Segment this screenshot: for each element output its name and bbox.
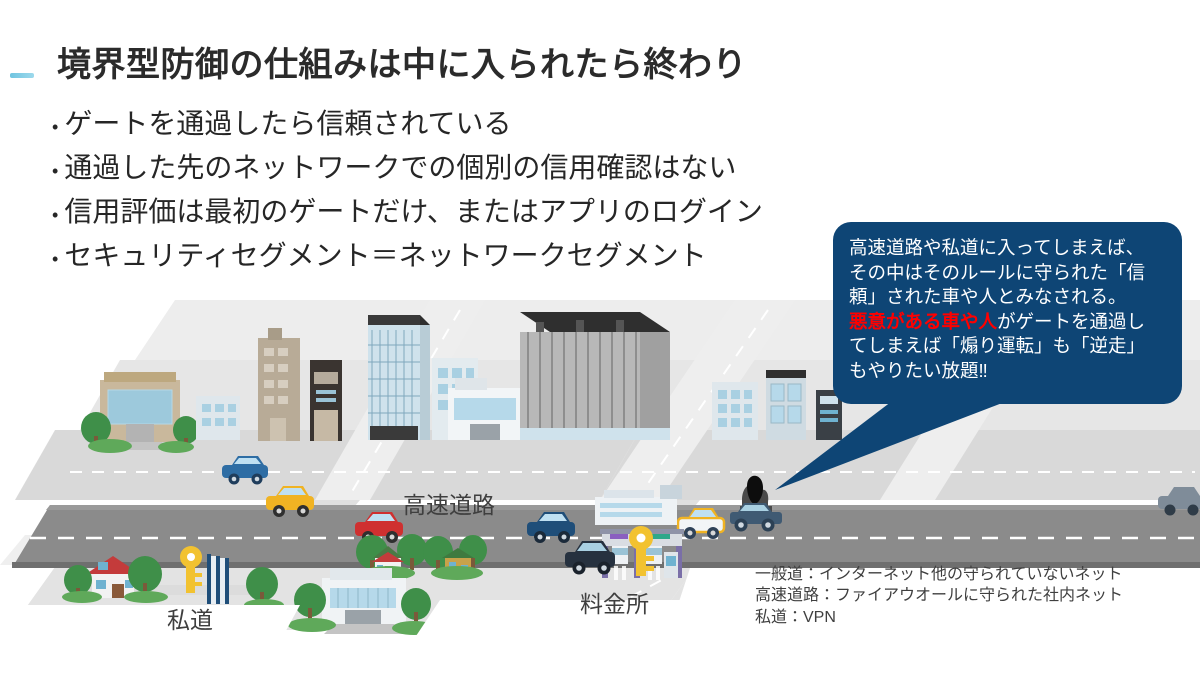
page-title: 境界型防御の仕組みは中に入られたら終わり [57,37,747,86]
label-toll-gate: 料金所 [580,585,649,619]
building-tan-midrise [258,328,300,441]
legend-block: 一般道：インターネット他の守られていないネット 高速道路：ファイアウオールに守ら… [755,564,1123,628]
bullet-text: 信用評価は最初のゲートだけ、またはアプリのログイン [64,198,763,226]
bullet-marker-icon: • [52,206,58,224]
legend-line: 私道：VPN [755,607,1123,628]
building-glass-tower [368,315,430,440]
callout-line: てしまえば「煽り運転」も「逆走」 [849,334,1168,359]
label-private-road: 私道 [167,601,213,635]
callout-line: 悪意がある車や人がゲートを通過し [849,310,1168,335]
bullet-text: 通過した先のネットワークでの個別の信用確認はない [64,154,736,182]
callout-line-text: がゲートを通過し [997,311,1145,332]
callout-line: もやりたい放題‼ [849,359,1168,384]
building-gray-skyscraper [520,312,670,440]
bullet-text: セキュリティセグメント＝ネットワークセグメント [64,242,706,270]
lower-center-mask [400,600,700,660]
bullet-marker-icon: • [52,250,58,268]
bullet-marker-icon: • [52,162,58,180]
callout-line: その中はそのルールに守られた「信 [849,261,1168,286]
accent-bar [10,73,34,78]
bullet-item: • ゲートを通過したら信頼されている [52,110,872,154]
bullet-text: ゲートを通過したら信頼されている [64,110,511,138]
bullet-item: • 信用評価は最初のゲートだけ、またはアプリのログイン [52,198,872,242]
callout-line: 頼」された車や人とみなされる。 [849,285,1168,310]
building-low-office-right [595,485,682,525]
bullet-marker-icon: • [52,118,58,136]
callout-highlight-text: 悪意がある車や人 [849,311,997,332]
gate-icon-private [207,554,229,604]
legend-line: 一般道：インターネット他の守られていないネット [755,564,1123,585]
building-beige-office [100,372,180,450]
callout-box: 高速道路や私道に入ってしまえば、 その中はそのルールに守られた「信 頼」された車… [833,222,1182,404]
slide-canvas: 境界型防御の仕組みは中に入られたら終わり • ゲートを通過したら信頼されている … [0,0,1200,675]
label-highway: 高速道路 [403,486,495,520]
lower-left-mask [0,605,300,660]
bullet-item: • 通過した先のネットワークでの個別の信用確認はない [52,154,872,198]
bullet-item: • セキュリティセグメント＝ネットワークセグメント [52,242,872,286]
legend-line: 高速道路：ファイアウオールに守られた社内ネット [755,585,1123,606]
callout-line: 高速道路や私道に入ってしまえば、 [849,236,1168,261]
buildings-midleft-cluster [196,396,240,440]
building-dark-slim [310,360,342,441]
bullet-list: • ゲートを通過したら信頼されている • 通過した先のネットワークでの個別の信用… [52,110,872,286]
